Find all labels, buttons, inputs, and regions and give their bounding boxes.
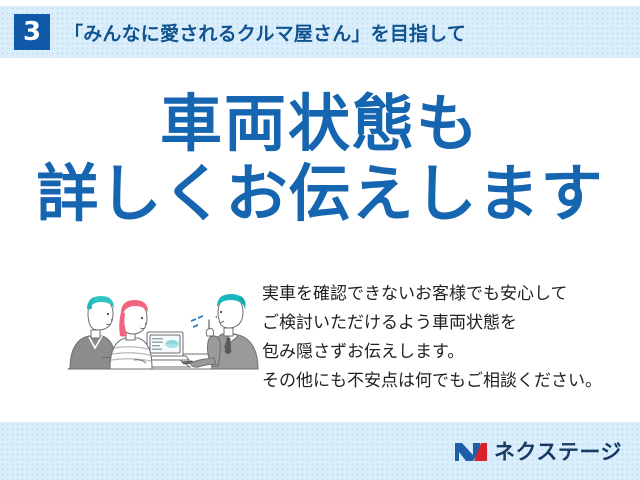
consultation-illustration-svg bbox=[62, 276, 260, 394]
body-text: 実車を確認できないお客様でも安心して ご検討いただけるよう車両状態を 包み隠さず… bbox=[262, 280, 622, 396]
headline-line-2: 詳しくお伝えします bbox=[0, 158, 640, 230]
advertisement-slide: 3 「みんなに愛されるクルマ屋さん」を目指して 車両状態も 詳しくお伝えします bbox=[0, 0, 640, 480]
customer-woman bbox=[110, 300, 152, 369]
brand-name: ネクステージ bbox=[494, 436, 622, 466]
header-title: 「みんなに愛されるクルマ屋さん」を目指して bbox=[64, 19, 466, 46]
body-line-3: 包み隠さずお伝えします。 bbox=[262, 338, 622, 367]
body-line-2: ご検討いただけるよう車両状態を bbox=[262, 309, 622, 338]
speech-marks bbox=[191, 315, 203, 328]
brand-logo: ネクステージ bbox=[454, 435, 622, 467]
headline: 車両状態も 詳しくお伝えします bbox=[0, 90, 640, 230]
header: 3 「みんなに愛されるクルマ屋さん」を目指して bbox=[0, 6, 640, 58]
body-line-1: 実車を確認できないお客様でも安心して bbox=[262, 280, 622, 309]
consultation-illustration bbox=[62, 276, 260, 394]
body-line-4: その他にも不安点は何でもご相談ください。 bbox=[262, 367, 622, 396]
headline-line-1: 車両状態も bbox=[0, 90, 640, 158]
step-number-badge: 3 bbox=[14, 14, 50, 50]
nextage-n-logo-icon bbox=[454, 439, 488, 463]
